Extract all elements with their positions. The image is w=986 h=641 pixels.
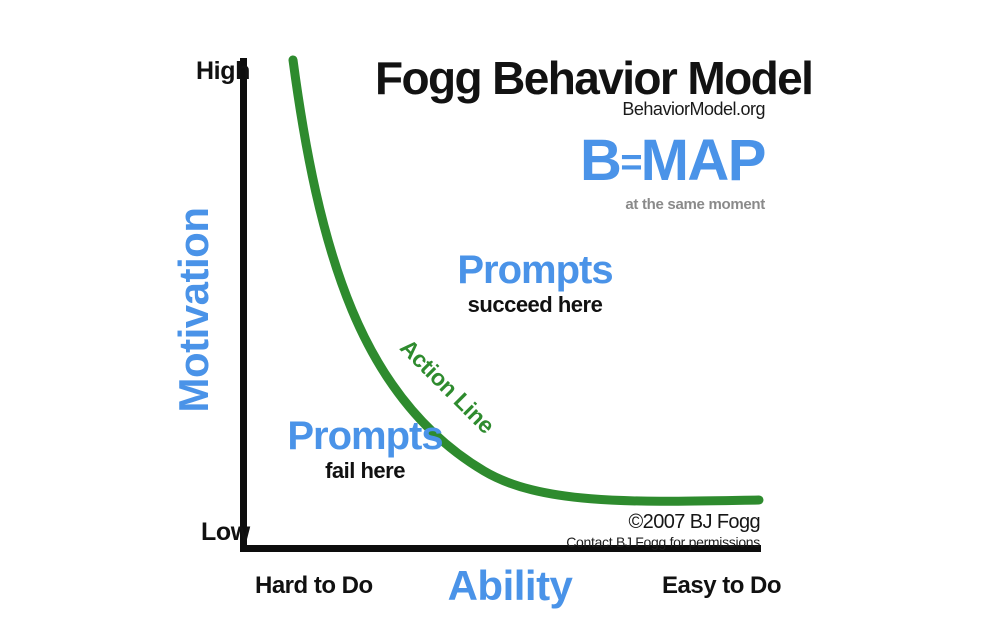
zone-prompts-succeed: Prompts succeed here: [400, 250, 670, 320]
formula-equals: =: [620, 142, 640, 184]
y-axis-title: Motivation: [170, 200, 218, 420]
formula-b: B: [580, 128, 620, 193]
y-axis-low-label: Low: [201, 518, 250, 547]
zone-succeed-subtitle: succeed here: [400, 290, 670, 320]
x-axis-easy-label: Easy to Do: [662, 572, 781, 600]
zone-succeed-title: Prompts: [400, 250, 670, 290]
x-axis-title: Ability: [440, 562, 580, 610]
copyright-label: ©2007 BJ Fogg: [450, 511, 760, 534]
formula-caption: at the same moment: [430, 196, 765, 213]
zone-fail-subtitle: fail here: [235, 456, 495, 486]
formula-b-equals-map: B=MAP: [430, 132, 765, 190]
x-axis-hard-label: Hard to Do: [255, 572, 373, 600]
formula-map: MAP: [641, 128, 765, 193]
page-title: Fogg Behavior Model: [375, 51, 812, 105]
fogg-behavior-model-diagram: Fogg Behavior Model BehaviorModel.org B=…: [0, 0, 986, 641]
zone-fail-title: Prompts: [235, 416, 495, 456]
website-label: BehaviorModel.org: [400, 99, 765, 120]
zone-prompts-fail: Prompts fail here: [235, 416, 495, 486]
permissions-label: Contact BJ Fogg for permissions: [450, 534, 760, 550]
y-axis-high-label: High: [196, 57, 250, 86]
